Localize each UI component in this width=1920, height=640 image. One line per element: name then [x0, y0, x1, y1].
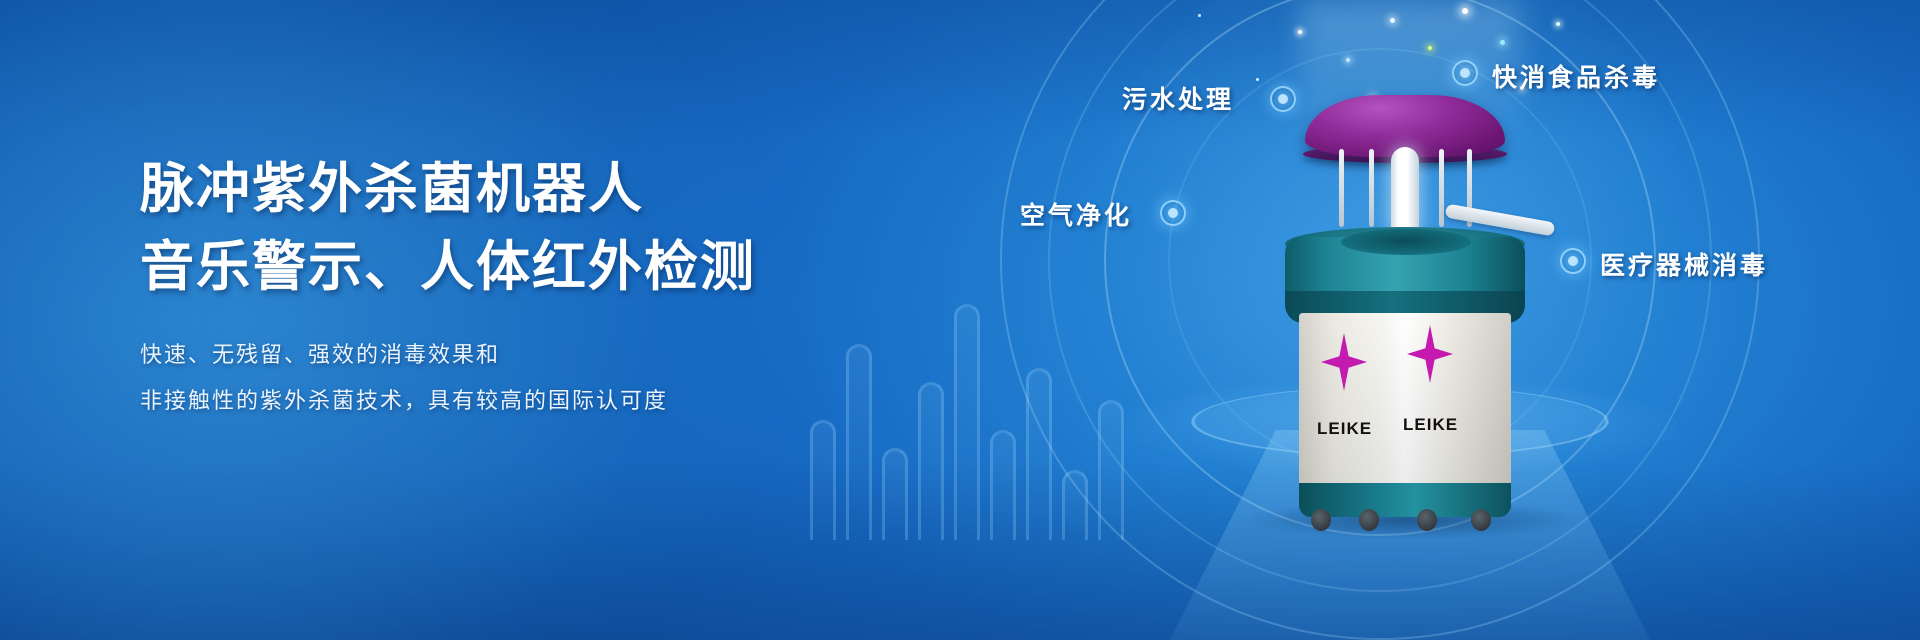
description-block: 快速、无残留、强效的消毒效果和 非接触性的紫外杀菌技术，具有较高的国际认可度 — [140, 332, 900, 424]
node-dot-icon-air — [1160, 200, 1186, 226]
caster-wheel-3 — [1417, 509, 1437, 531]
feature-label-air-purification: 空气净化 — [1020, 196, 1132, 232]
lamp-strut-inner-right — [1439, 149, 1444, 227]
headline-line-1: 脉冲紫外杀菌机器人 — [140, 150, 900, 228]
node-dot-icon-food — [1452, 60, 1478, 86]
promo-banner: 脉冲紫外杀菌机器人 音乐警示、人体红外检测 快速、无残留、强效的消毒效果和 非接… — [0, 0, 1920, 640]
caster-wheel-1 — [1311, 509, 1331, 531]
lamp-strut-left — [1339, 149, 1344, 227]
description-line-1: 快速、无残留、强效的消毒效果和 — [140, 332, 900, 378]
feature-label-medical-device-disinfection: 医疗器械消毒 — [1600, 246, 1768, 282]
feature-label-wastewater-treatment: 污水处理 — [1122, 80, 1234, 116]
headline-line-2: 音乐警示、人体红外检测 — [140, 228, 900, 306]
caster-wheel-4 — [1471, 509, 1491, 531]
lamp-strut-inner-left — [1369, 149, 1374, 227]
brand-text-left: LEIKE — [1317, 419, 1372, 439]
caster-wheel-2 — [1359, 509, 1379, 531]
product-torso-shading — [1299, 313, 1511, 489]
brand-text-right: LEIKE — [1403, 415, 1458, 435]
product-uv-robot: LEIKE LEIKE — [1255, 95, 1555, 515]
description-line-2: 非接触性的紫外杀菌技术，具有较高的国际认可度 — [140, 378, 900, 424]
headline-block: 脉冲紫外杀菌机器人 音乐警示、人体红外检测 快速、无残留、强效的消毒效果和 非接… — [140, 150, 900, 424]
uv-lamp-tube — [1391, 147, 1419, 235]
feature-label-fmcg-food-sterilization: 快消食品杀毒 — [1492, 58, 1660, 94]
lamp-recess — [1341, 229, 1471, 255]
node-dot-icon-medical — [1560, 248, 1586, 274]
